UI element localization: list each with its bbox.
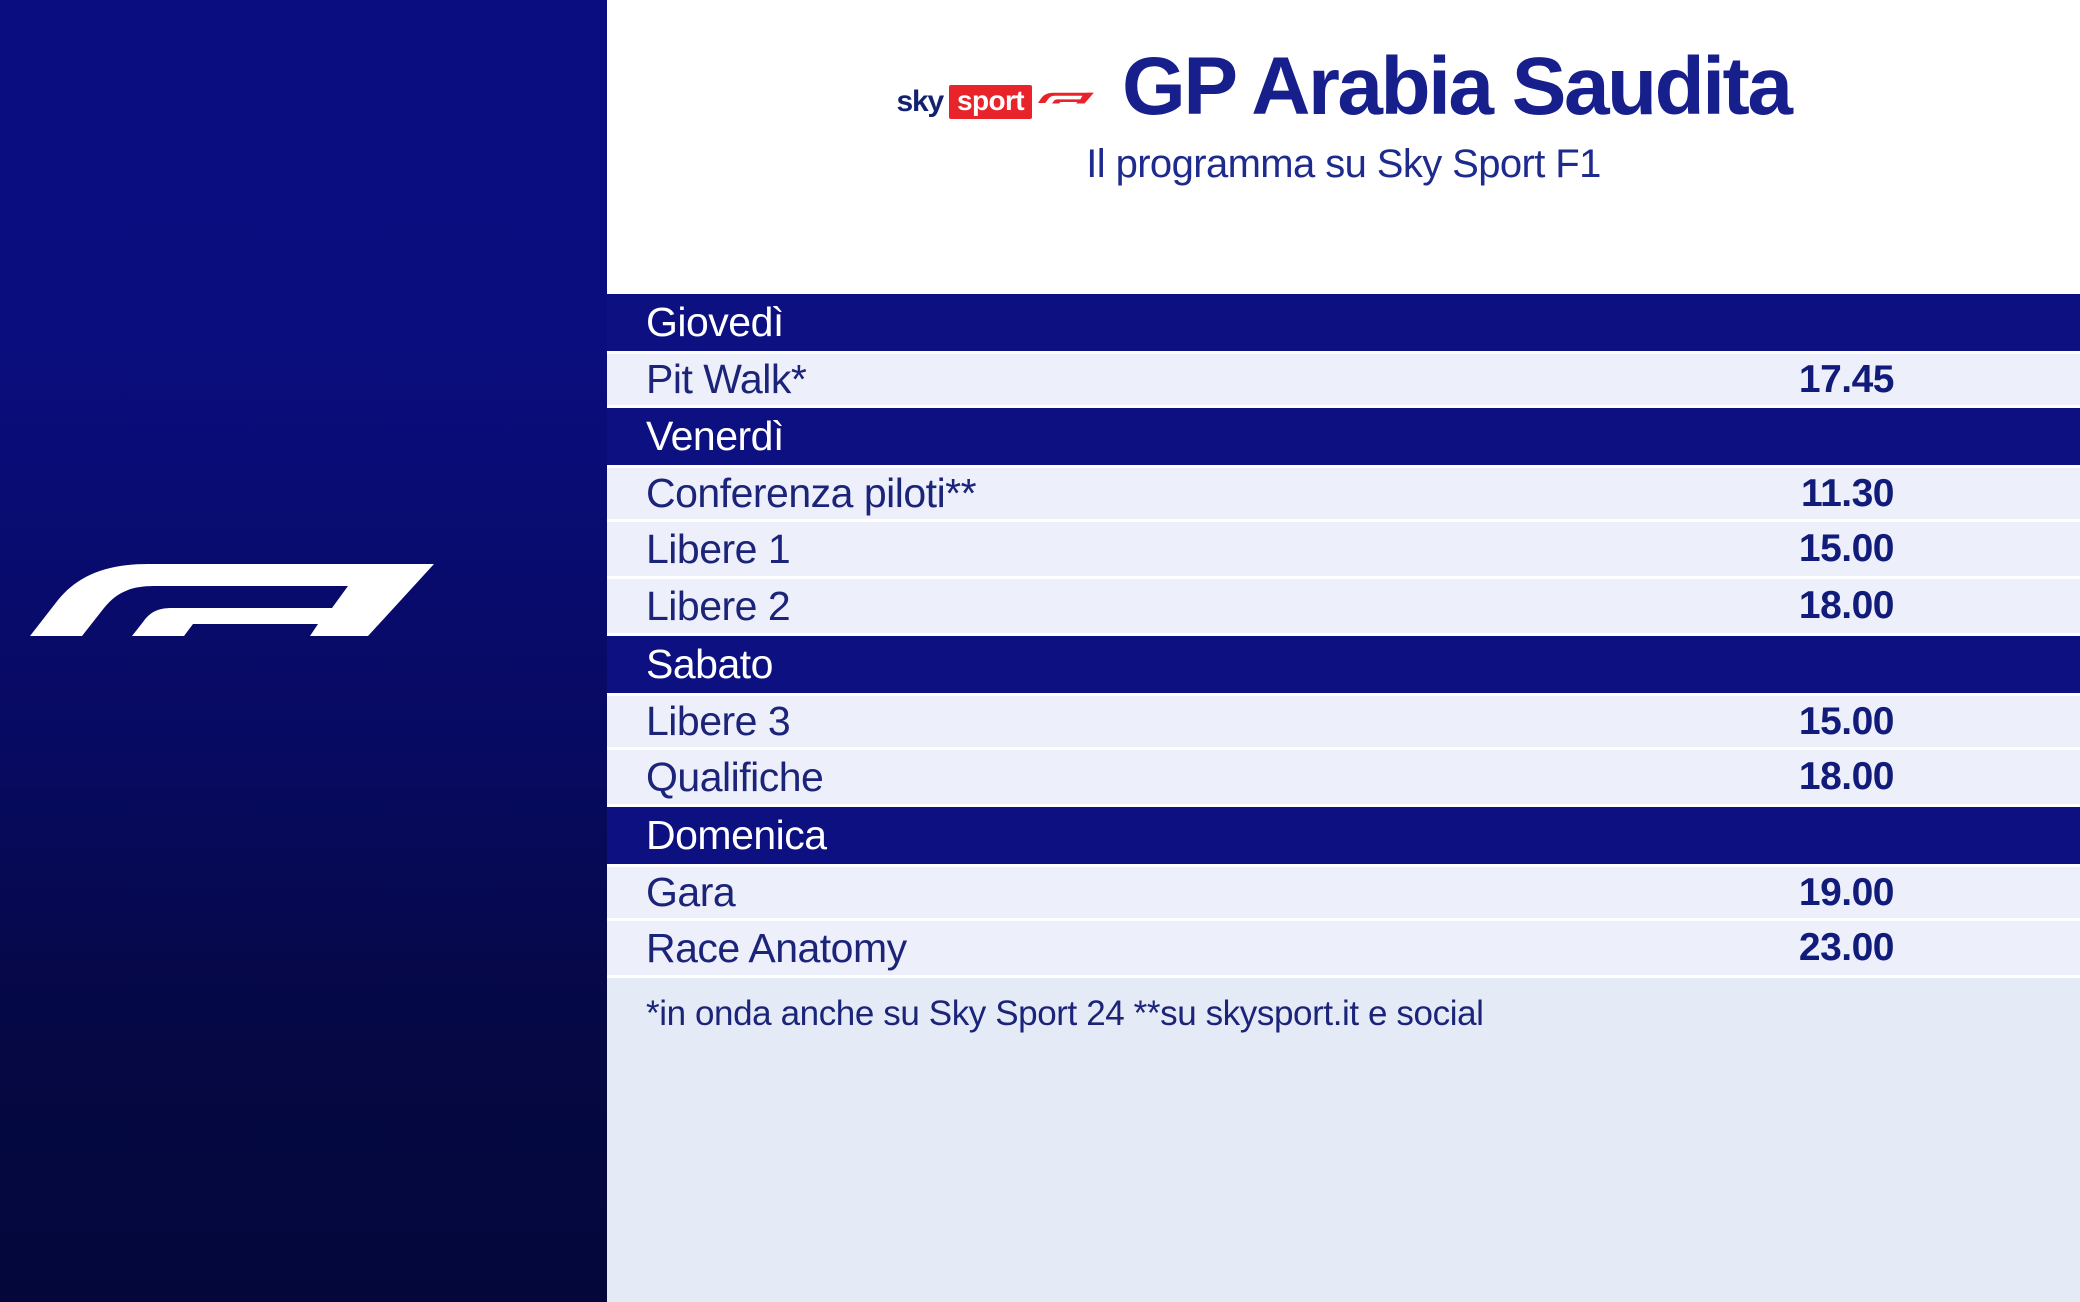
day-header-sabato: Sabato xyxy=(607,636,2080,693)
header: sky sport GP Arabia Saudita Il programma… xyxy=(607,0,2080,294)
event-name: Conferenza piloti** xyxy=(646,470,1801,517)
event-name: Libere 3 xyxy=(646,698,1799,745)
event-row: Libere 1 15.00 xyxy=(607,522,2080,579)
event-row: Race Anatomy 23.00 xyxy=(607,921,2080,978)
event-time: 18.00 xyxy=(1799,584,1894,628)
schedule-panel: sky sport GP Arabia Saudita Il programma… xyxy=(607,0,2080,1302)
f1-logo-icon xyxy=(30,556,490,691)
page-subtitle: Il programma su Sky Sport F1 xyxy=(1086,142,1601,187)
event-row: Pit Walk* 17.45 xyxy=(607,351,2080,408)
event-name: Libere 1 xyxy=(646,526,1799,573)
event-row: Conferenza piloti** 11.30 xyxy=(607,465,2080,522)
event-name: Gara xyxy=(646,869,1799,916)
footnote-text: *in onda anche su Sky Sport 24 **su skys… xyxy=(646,994,1484,1034)
f1-logo-icon-small xyxy=(1038,89,1100,115)
event-name: Race Anatomy xyxy=(646,925,1799,972)
event-time: 18.00 xyxy=(1799,755,1894,799)
sport-badge: sport xyxy=(949,85,1032,119)
event-time: 11.30 xyxy=(1801,472,1894,516)
event-row: Libere 2 18.00 xyxy=(607,579,2080,636)
event-time: 23.00 xyxy=(1799,926,1894,970)
event-name: Pit Walk* xyxy=(646,356,1799,403)
event-row: Gara 19.00 xyxy=(607,864,2080,921)
event-time: 15.00 xyxy=(1799,527,1894,571)
left-brand-panel xyxy=(0,0,607,1302)
event-row: Qualifiche 18.00 xyxy=(607,750,2080,807)
day-header-domenica: Domenica xyxy=(607,807,2080,864)
page-title: GP Arabia Saudita xyxy=(1122,46,1790,128)
event-name: Libere 2 xyxy=(646,583,1799,630)
event-time: 17.45 xyxy=(1799,358,1894,402)
event-time: 15.00 xyxy=(1799,700,1894,744)
footnote-row: *in onda anche su Sky Sport 24 **su skys… xyxy=(607,978,2080,1302)
event-row: Libere 3 15.00 xyxy=(607,693,2080,750)
day-header-giovedi: Giovedì xyxy=(607,294,2080,351)
title-row: sky sport GP Arabia Saudita xyxy=(897,46,1791,128)
event-time: 19.00 xyxy=(1799,871,1894,915)
day-header-venerdi: Venerdì xyxy=(607,408,2080,465)
sky-wordmark: sky xyxy=(897,87,943,117)
schedule-table: Giovedì Pit Walk* 17.45 Venerdì Conferen… xyxy=(607,294,2080,1302)
event-name: Qualifiche xyxy=(646,754,1799,801)
sky-sport-f1-logo: sky sport xyxy=(897,85,1100,119)
broadcast-schedule-graphic: sky sport GP Arabia Saudita Il programma… xyxy=(0,0,2080,1302)
